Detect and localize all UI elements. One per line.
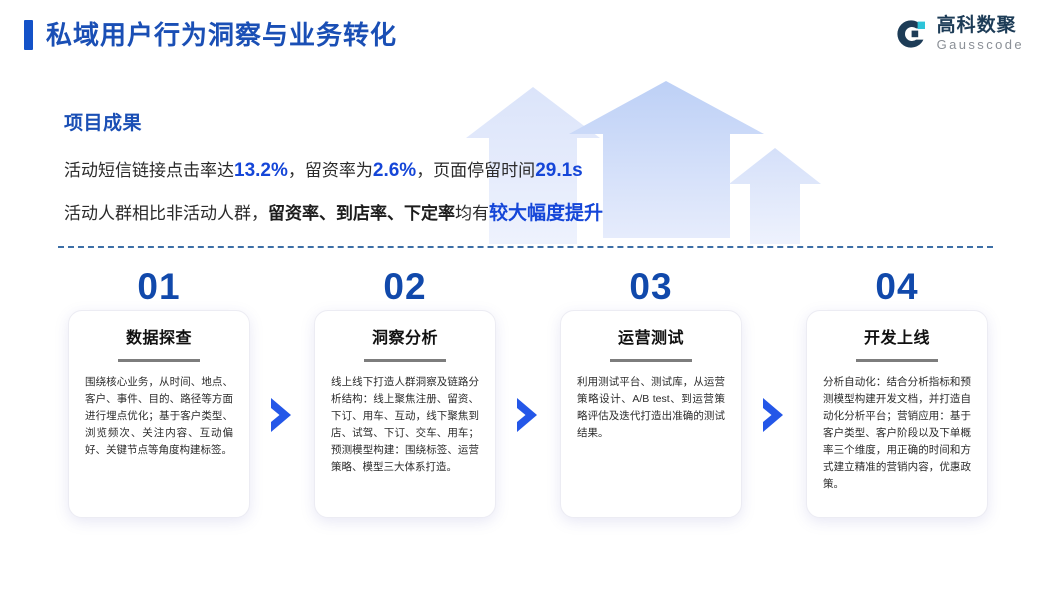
chevron-right-icon [268,396,294,434]
gausscode-logo-icon [894,17,928,51]
results-line1-seg3: ，页面停留时间 [416,161,535,180]
steps-section: 01 数据探查 围绕核心业务，从时间、地点、客户、事件、目的、路径等方面进行埋点… [0,268,1048,538]
results-line2-seg1: 活动人群相比非活动人群， [64,204,268,223]
step-number-02: 02 [314,268,496,305]
metric-click-rate: 13.2% [234,160,288,181]
chevron-right-icon [514,396,540,434]
step-number-03: 03 [560,268,742,305]
slide-header: 私域用户行为洞察与业务转化 高科数聚 Gausscode [0,0,1048,78]
title-text: 私域用户行为洞察与业务转化 [46,22,397,48]
results-line1-seg2: ，留资率为 [288,161,373,180]
slide-root: 私域用户行为洞察与业务转化 高科数聚 Gausscode 项目成果 活动短信链接… [0,0,1048,591]
step-title-01: 数据探查 [81,331,237,347]
step-title-04: 开发上线 [819,331,975,347]
step-body-02: 线上线下打造人群洞察及链路分析结构：线上聚焦注册、留资、下订、用车、互动，线下聚… [327,374,483,476]
title-accent-bar [24,20,33,50]
step-number-01: 01 [68,268,250,305]
step-card-04[interactable]: 开发上线 分析自动化：结合分析指标和预测模型构建开发文档，并打造自动化分析平台；… [806,310,988,518]
step-title-02: 洞察分析 [327,331,483,347]
step-body-01: 围绕核心业务，从时间、地点、客户、事件、目的、路径等方面进行埋点优化；基于客户类… [81,374,237,459]
step-card-03[interactable]: 运营测试 利用测试平台、测试库，从运营策略设计、A/B test、到运营策略评估… [560,310,742,518]
step-body-03: 利用测试平台、测试库，从运营策略设计、A/B test、到运营策略评估及迭代打造… [573,374,729,442]
results-line2-bold: 留资率、到店率、下定率 [268,204,455,223]
section-divider [58,246,993,248]
step-number-04: 04 [806,268,988,305]
metric-lead-rate: 2.6% [373,160,416,181]
results-line1-seg1: 活动短信链接点击率达 [64,161,234,180]
results-line-2: 活动人群相比非活动人群，留资率、到店率、下定率均有较大幅度提升 [64,200,824,229]
step-rule-03 [610,359,692,362]
step-rule-04 [856,359,938,362]
logo-name-cn: 高科数聚 [937,16,1024,35]
step-body-04: 分析自动化：结合分析指标和预测模型构建开发文档，并打造自动化分析平台；营销应用：… [819,374,975,493]
logo-name-en: Gausscode [937,38,1024,51]
results-line2-highlight: 较大幅度提升 [489,203,603,224]
step-card-01[interactable]: 数据探查 围绕核心业务，从时间、地点、客户、事件、目的、路径等方面进行埋点优化；… [68,310,250,518]
step-rule-02 [364,359,446,362]
brand-logo: 高科数聚 Gausscode [894,16,1024,51]
logo-text-block: 高科数聚 Gausscode [937,16,1024,51]
metric-dwell-time: 29.1s [535,160,583,181]
chevron-right-icon [760,396,786,434]
page-title: 私域用户行为洞察与业务转化 [24,20,397,50]
results-line-1: 活动短信链接点击率达13.2%，留资率为2.6%，页面停留时间29.1s [64,157,824,186]
results-section: 项目成果 活动短信链接点击率达13.2%，留资率为2.6%，页面停留时间29.1… [64,108,824,242]
results-heading: 项目成果 [64,108,824,135]
step-rule-01 [118,359,200,362]
step-title-03: 运营测试 [573,331,729,347]
step-card-02[interactable]: 洞察分析 线上线下打造人群洞察及链路分析结构：线上聚焦注册、留资、下订、用车、互… [314,310,496,518]
results-line2-seg2: 均有 [455,204,489,223]
